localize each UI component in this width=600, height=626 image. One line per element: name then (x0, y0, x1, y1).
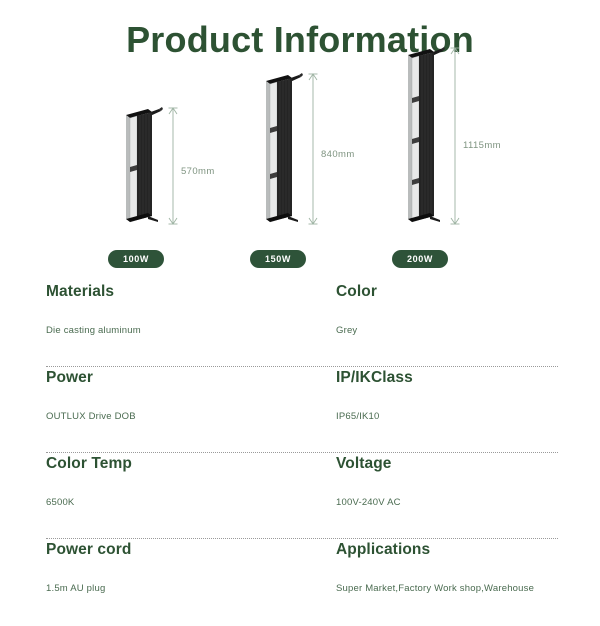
spec-cell-ip-ik-class: IP/IKClass IP65/IK10 (336, 368, 600, 424)
spec-label: Power cord (46, 540, 282, 560)
spec-cell-voltage: Voltage 100V-240V AC (336, 454, 600, 510)
spec-label: Power (46, 368, 282, 388)
dimension-line-100w (168, 104, 178, 228)
spec-label: Voltage (336, 454, 600, 474)
spec-value: OUTLUX Drive DOB (46, 410, 282, 424)
table-row: Power OUTLUX Drive DOB IP/IKClass IP65/I… (46, 368, 558, 454)
spec-cell-applications: Applications Super Market,Factory Work s… (336, 540, 600, 596)
dimension-line-150w (308, 70, 318, 228)
table-row: Color Temp 6500K Voltage 100V-240V AC (46, 454, 558, 540)
lamp-fixture-image (400, 44, 446, 228)
spec-value: 100V-240V AC (336, 496, 600, 510)
spec-cell-power: Power OUTLUX Drive DOB (46, 368, 282, 424)
spec-value: Super Market,Factory Work shop,Warehouse (336, 582, 600, 596)
dimension-label-150w: 840mm (321, 149, 355, 160)
spec-value: Grey (336, 324, 600, 338)
spec-value: 1.5m AU plug (46, 582, 282, 596)
spec-value: Die casting aluminum (46, 324, 282, 338)
product-card-100w: 570mm 100W (92, 60, 232, 272)
spec-cell-power-cord: Power cord 1.5m AU plug (46, 540, 282, 596)
product-card-150w: 840mm 150W (236, 60, 376, 272)
spec-label: Materials (46, 282, 282, 302)
lamp-fixture-image (258, 70, 304, 228)
dimension-label-200w: 1115mm (463, 140, 501, 151)
wattage-badge-200w[interactable]: 200W (392, 250, 448, 268)
product-gallery: 570mm 100W (0, 60, 600, 272)
table-row: Materials Die casting aluminum Color Gre… (46, 282, 558, 368)
product-card-200w: 1115mm 200W (380, 60, 530, 272)
specifications-table: Materials Die casting aluminum Color Gre… (46, 282, 558, 626)
spec-cell-color: Color Grey (336, 282, 600, 338)
spec-cell-color-temp: Color Temp 6500K (46, 454, 282, 510)
spec-label: Color Temp (46, 454, 282, 474)
lamp-fixture-image (118, 104, 164, 228)
page-title: Product Information (0, 18, 600, 62)
spec-value: 6500K (46, 496, 282, 510)
spec-cell-materials: Materials Die casting aluminum (46, 282, 282, 338)
dimension-line-200w (450, 44, 460, 228)
spec-value: IP65/IK10 (336, 410, 600, 424)
table-row: Power cord 1.5m AU plug Applications Sup… (46, 540, 558, 626)
spec-label: Color (336, 282, 600, 302)
wattage-badge-150w[interactable]: 150W (250, 250, 306, 268)
wattage-badge-100w[interactable]: 100W (108, 250, 164, 268)
spec-label: Applications (336, 540, 600, 560)
spec-label: IP/IKClass (336, 368, 600, 388)
dimension-label-100w: 570mm (181, 166, 215, 177)
